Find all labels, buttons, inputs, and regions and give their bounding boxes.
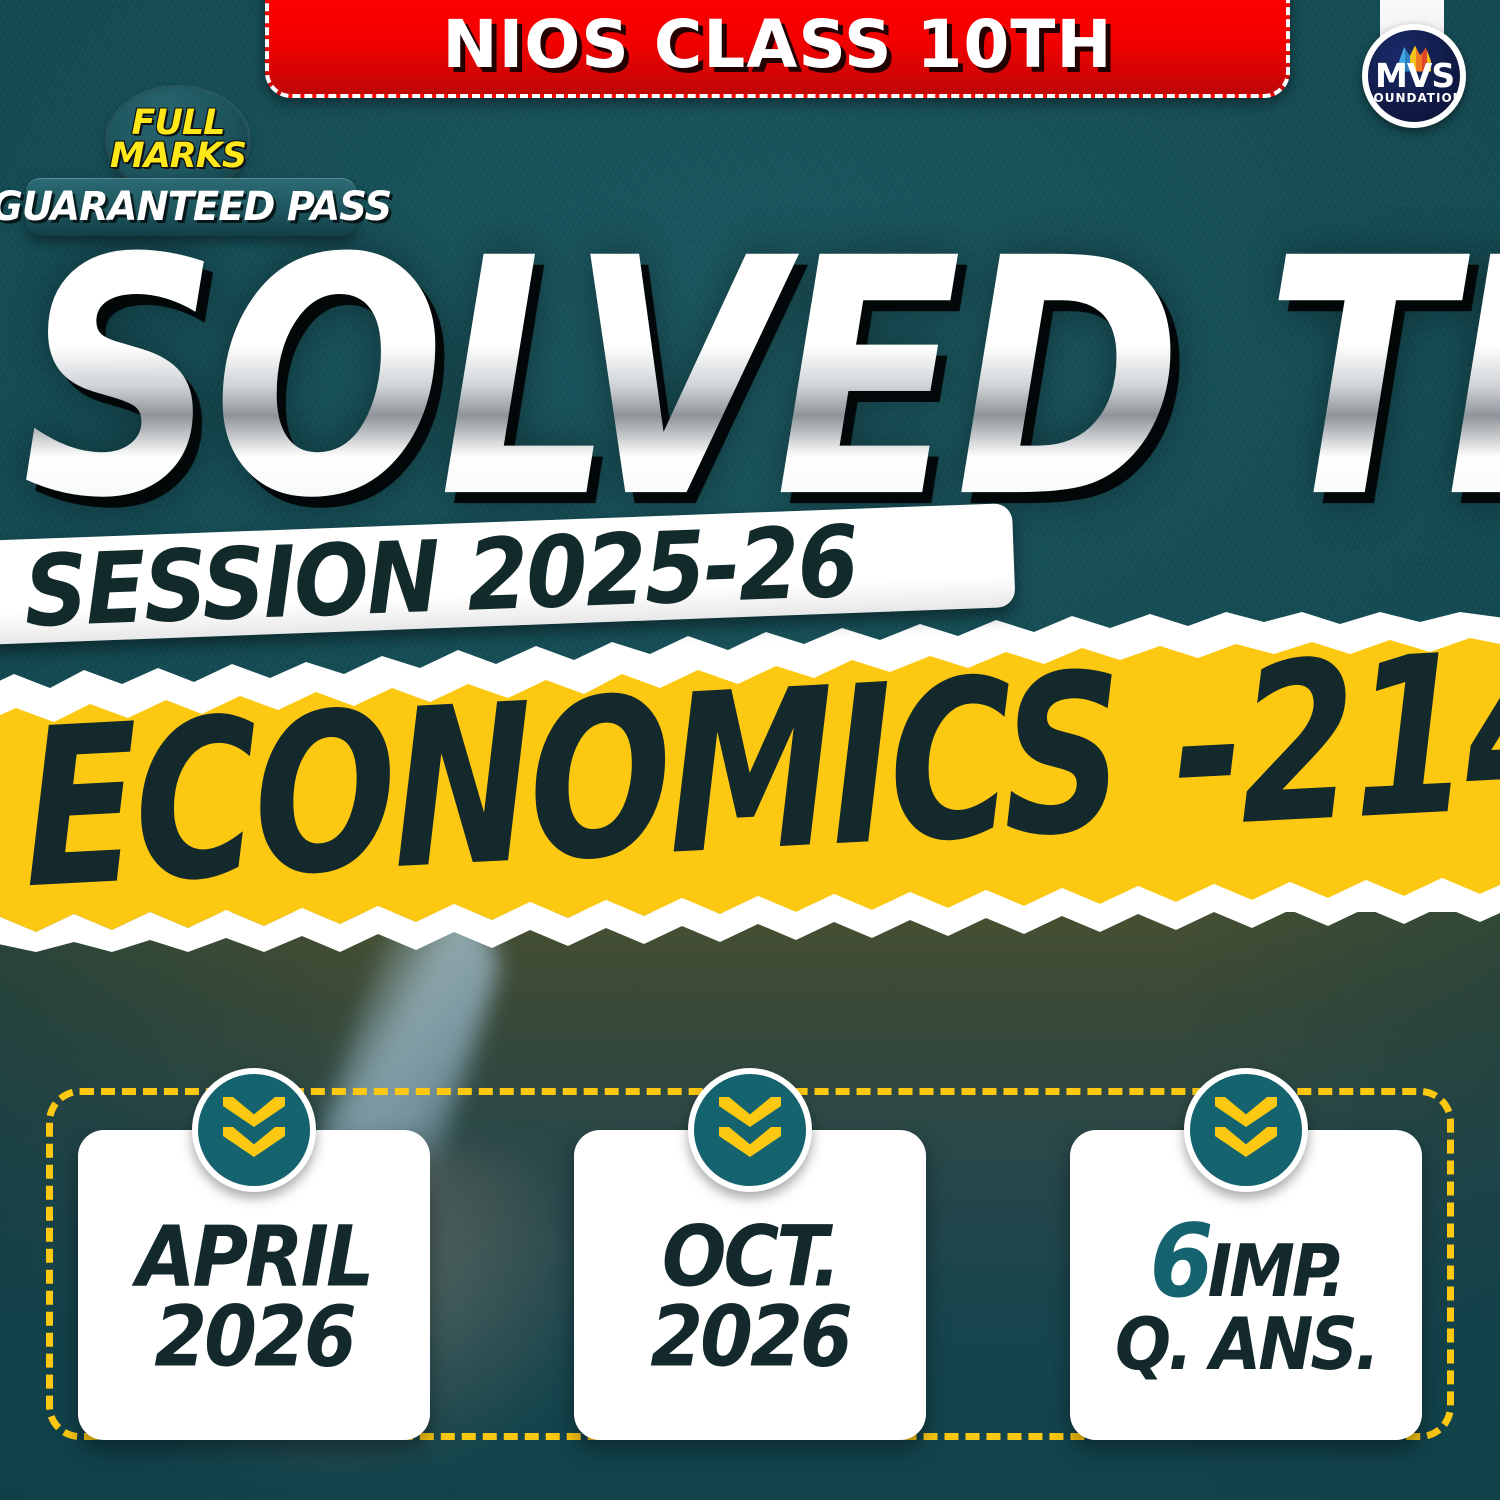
chevron-down-icon-bottom — [1215, 1127, 1277, 1157]
april-card-line2: 2026 — [154, 1296, 354, 1378]
april-card[interactable]: APRIL 2026 — [78, 1130, 430, 1440]
class-banner-label: NIOS CLASS 10TH — [442, 0, 1112, 83]
guaranteed-pass-pill: GUARANTEED PASS — [26, 178, 356, 236]
chevron-down-icon-top — [719, 1097, 781, 1127]
chevron-down-icon-bottom — [223, 1127, 285, 1157]
logo-mark: MVS — [1375, 48, 1453, 94]
questions-card[interactable]: 6IMP. Q. ANS. — [1070, 1130, 1422, 1440]
subject-torn-band — [0, 612, 1500, 952]
page-title: SOLVED TMA — [22, 236, 1482, 526]
double-chevron-down-icon — [688, 1068, 812, 1192]
chevron-down-icon-top — [1215, 1097, 1277, 1127]
full-marks-badge: FULL MARKS — [108, 88, 248, 192]
chevron-down-icon-top — [223, 1097, 285, 1127]
poster-canvas: NIOS CLASS 10TH MVS FOUNDATION FULL MARK… — [0, 0, 1500, 1500]
double-chevron-down-icon — [192, 1068, 316, 1192]
questions-card-line1: 6IMP. — [1150, 1212, 1343, 1311]
oct-card[interactable]: OCT. 2026 — [574, 1130, 926, 1440]
double-chevron-down-icon — [1184, 1068, 1308, 1192]
oct-card-line2: 2026 — [650, 1296, 850, 1378]
logo-circle: MVS FOUNDATION — [1362, 24, 1466, 128]
page-title-text: SOLVED TMA — [22, 234, 1500, 528]
full-marks-line2: MARKS — [110, 140, 246, 173]
questions-card-line1-label: IMP. — [1208, 1229, 1343, 1314]
questions-card-line2: Q. ANS. — [1115, 1310, 1377, 1381]
info-cards: APRIL 2026 OCT. 2026 6IMP. Q. ANS. — [0, 1060, 1500, 1460]
logo-mvs-text: MVS — [1375, 59, 1453, 92]
chevron-down-icon-bottom — [719, 1127, 781, 1157]
class-banner: NIOS CLASS 10TH — [265, 0, 1290, 98]
logo-inner: MVS FOUNDATION — [1368, 30, 1460, 122]
april-card-line1: APRIL — [137, 1216, 372, 1298]
guaranteed-pass-label: GUARANTEED PASS — [0, 184, 391, 230]
oct-card-line1: OCT. — [662, 1216, 838, 1298]
brand-logo: MVS FOUNDATION — [1358, 0, 1468, 168]
